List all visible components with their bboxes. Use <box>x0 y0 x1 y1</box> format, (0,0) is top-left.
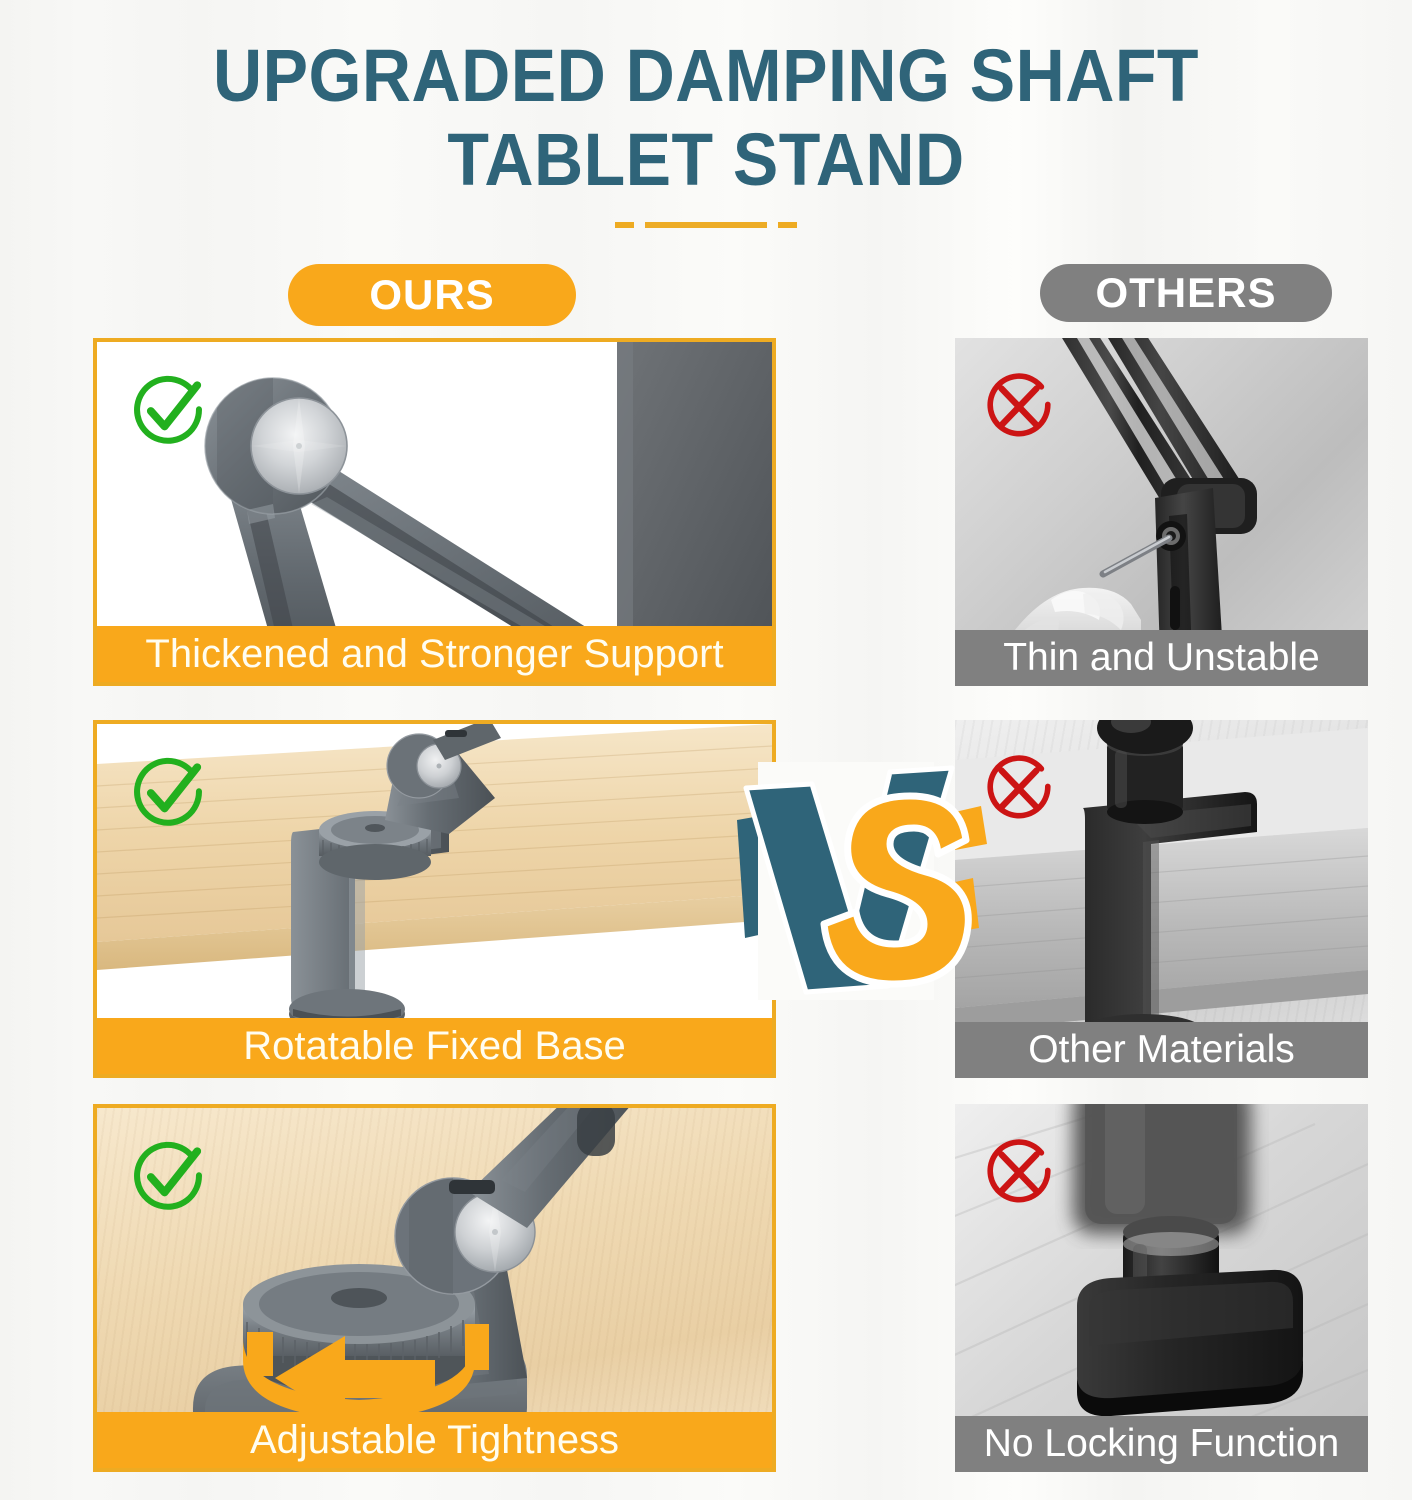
infographic-page: UPGRADED DAMPING SHAFT TABLET STAND OURS… <box>0 0 1412 1500</box>
x-circle-icon <box>979 366 1059 446</box>
card-ours-1: Thickened and Stronger Support <box>93 338 776 686</box>
x-circle-icon <box>979 1132 1059 1212</box>
card-ours-2-caption: Rotatable Fixed Base <box>97 1018 772 1074</box>
check-circle-icon <box>125 750 211 836</box>
card-others-3-caption: No Locking Function <box>955 1416 1368 1472</box>
card-ours-3: Adjustable Tightness <box>93 1104 776 1472</box>
versus-mark <box>738 762 988 1000</box>
card-others-1-caption: Thin and Unstable <box>955 630 1368 686</box>
comparison-grid: Thickened and Stronger Support <box>0 0 1412 1500</box>
card-ours-1-caption: Thickened and Stronger Support <box>97 626 772 682</box>
card-ours-2: Rotatable Fixed Base <box>93 720 776 1078</box>
card-others-3: No Locking Function <box>955 1104 1368 1472</box>
card-others-1: Thin and Unstable <box>955 338 1368 686</box>
card-others-2: Other Materials <box>955 720 1368 1078</box>
x-circle-icon <box>979 748 1059 828</box>
check-circle-icon <box>125 1134 211 1220</box>
check-circle-icon <box>125 368 211 454</box>
card-others-2-caption: Other Materials <box>955 1022 1368 1078</box>
card-ours-3-caption: Adjustable Tightness <box>97 1412 772 1468</box>
